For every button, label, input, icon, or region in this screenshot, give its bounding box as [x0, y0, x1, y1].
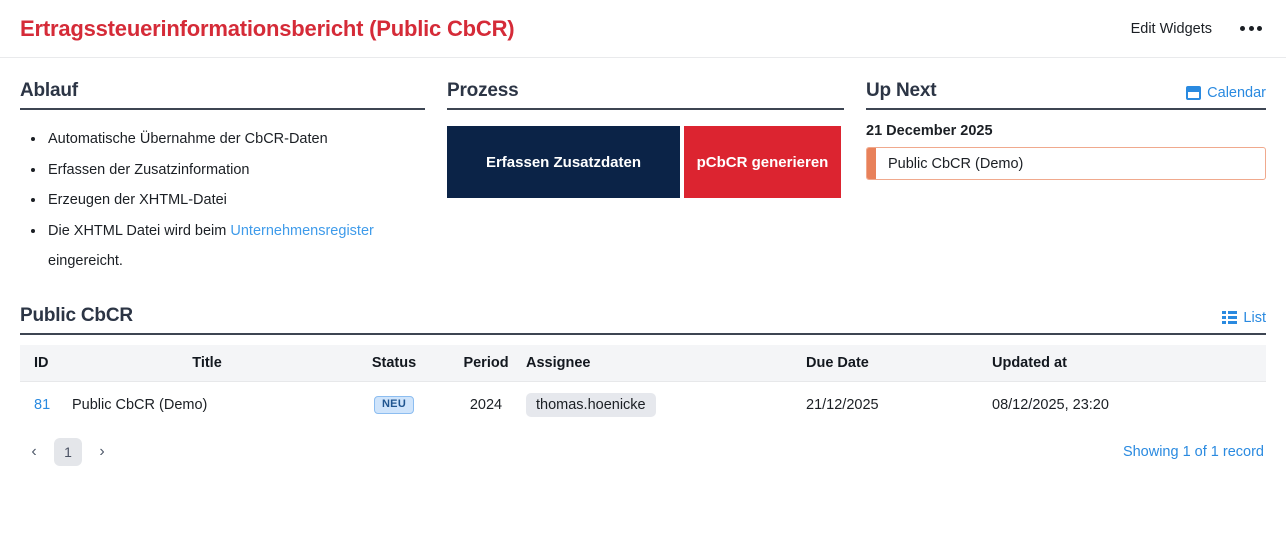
kebab-menu-icon[interactable]	[1238, 22, 1264, 35]
unternehmensregister-link[interactable]: Unternehmensregister	[230, 223, 373, 239]
list-item: Die XHTML Datei wird beim Unternehmensre…	[46, 216, 425, 277]
cell-due-date: 21/12/2025	[806, 381, 992, 428]
cell-period: 2024	[446, 381, 526, 428]
calendar-button-label: Calendar	[1207, 85, 1266, 101]
column-header-due-date[interactable]: Due Date	[806, 345, 992, 382]
list-item: Erfassen der Zusatzinformation	[46, 155, 425, 186]
table-row[interactable]: 81 Public CbCR (Demo) NEU 2024 thomas.ho…	[20, 381, 1266, 428]
list-item: Erzeugen der XHTML-Datei	[46, 185, 425, 216]
table-body: 81 Public CbCR (Demo) NEU 2024 thomas.ho…	[20, 381, 1266, 428]
process-buttons: Erfassen Zusatzdaten pCbCR generieren	[447, 126, 844, 198]
page-title: Ertragssteuerinformationsbericht (Public…	[20, 16, 514, 42]
ablauf-item-text: Erzeugen der XHTML-Datei	[48, 192, 227, 208]
ablauf-item-text: Automatische Übernahme der CbCR-Daten	[48, 131, 328, 147]
ablauf-list: Automatische Übernahme der CbCR-Daten Er…	[20, 124, 425, 277]
widget-prozess: Prozess Erfassen Zusatzdaten pCbCR gener…	[447, 80, 844, 198]
section-title: Public CbCR	[20, 305, 133, 327]
header-actions: Edit Widgets	[1131, 21, 1264, 37]
column-header-assignee[interactable]: Assignee	[526, 345, 806, 382]
page-number-1[interactable]: 1	[54, 438, 82, 466]
kebab-dot	[1240, 26, 1245, 31]
public-cbcr-table: ID Title Status Period Assignee Due Date…	[20, 345, 1266, 428]
kebab-dot	[1257, 26, 1262, 31]
list-icon	[1222, 311, 1237, 324]
calendar-icon	[1186, 86, 1201, 100]
kebab-dot	[1249, 26, 1254, 31]
widget-up-next-header: Up Next Calendar	[866, 80, 1266, 110]
cell-title: Public CbCR (Demo)	[72, 381, 342, 428]
public-cbcr-section-header: Public CbCR List	[20, 305, 1266, 335]
column-header-id[interactable]: ID	[20, 345, 72, 382]
cell-status: NEU	[342, 381, 446, 428]
assignee-chip: thomas.hoenicke	[526, 393, 656, 417]
chevron-left-icon[interactable]: ‹	[20, 438, 48, 466]
cell-updated-at: 08/12/2025, 23:20	[992, 381, 1266, 428]
up-next-event-card[interactable]: Public CbCR (Demo)	[866, 147, 1266, 180]
event-title: Public CbCR (Demo)	[876, 148, 1023, 179]
event-accent-bar	[867, 148, 876, 179]
chevron-right-icon[interactable]: ›	[88, 438, 116, 466]
list-view-button[interactable]: List	[1222, 310, 1266, 327]
ablauf-item-text-before: Die XHTML Datei wird beim	[48, 223, 230, 239]
widget-ablauf-title: Ablauf	[20, 80, 78, 102]
widget-up-next-title: Up Next	[866, 80, 936, 102]
public-cbcr-section: Public CbCR List ID Title Status Period …	[0, 277, 1286, 466]
widgets-row: Ablauf Automatische Übernahme der CbCR-D…	[0, 58, 1286, 277]
table-header: ID Title Status Period Assignee Due Date…	[20, 345, 1266, 382]
calendar-button[interactable]: Calendar	[1186, 85, 1266, 102]
erfassen-zusatzdaten-button[interactable]: Erfassen Zusatzdaten	[447, 126, 680, 198]
pagination-row: ‹ 1 › Showing 1 of 1 record	[20, 428, 1266, 466]
widget-prozess-title: Prozess	[447, 80, 518, 102]
column-header-period[interactable]: Period	[446, 345, 526, 382]
ablauf-item-text: Erfassen der Zusatzinformation	[48, 162, 249, 178]
pagination: ‹ 1 ›	[20, 438, 116, 466]
column-header-status[interactable]: Status	[342, 345, 446, 382]
cell-id: 81	[20, 381, 72, 428]
edit-widgets-button[interactable]: Edit Widgets	[1131, 21, 1212, 37]
table-header-row: ID Title Status Period Assignee Due Date…	[20, 345, 1266, 382]
widget-prozess-header: Prozess	[447, 80, 844, 110]
cell-assignee: thomas.hoenicke	[526, 381, 806, 428]
record-id-link[interactable]: 81	[34, 397, 50, 413]
record-count-label: Showing 1 of 1 record	[1123, 444, 1266, 460]
status-badge: NEU	[374, 396, 414, 414]
list-view-label: List	[1243, 310, 1266, 326]
page-header: Ertragssteuerinformationsbericht (Public…	[0, 0, 1286, 58]
pcbcr-generieren-button[interactable]: pCbCR generieren	[684, 126, 841, 198]
column-header-updated-at[interactable]: Updated at	[992, 345, 1266, 382]
column-header-title[interactable]: Title	[72, 345, 342, 382]
widget-ablauf: Ablauf Automatische Übernahme der CbCR-D…	[20, 80, 425, 277]
ablauf-item-text-after: eingereicht.	[48, 253, 123, 269]
widget-up-next: Up Next Calendar 21 December 2025 Public…	[866, 80, 1266, 180]
widget-ablauf-header: Ablauf	[20, 80, 425, 110]
up-next-date: 21 December 2025	[866, 123, 1266, 139]
list-item: Automatische Übernahme der CbCR-Daten	[46, 124, 425, 155]
